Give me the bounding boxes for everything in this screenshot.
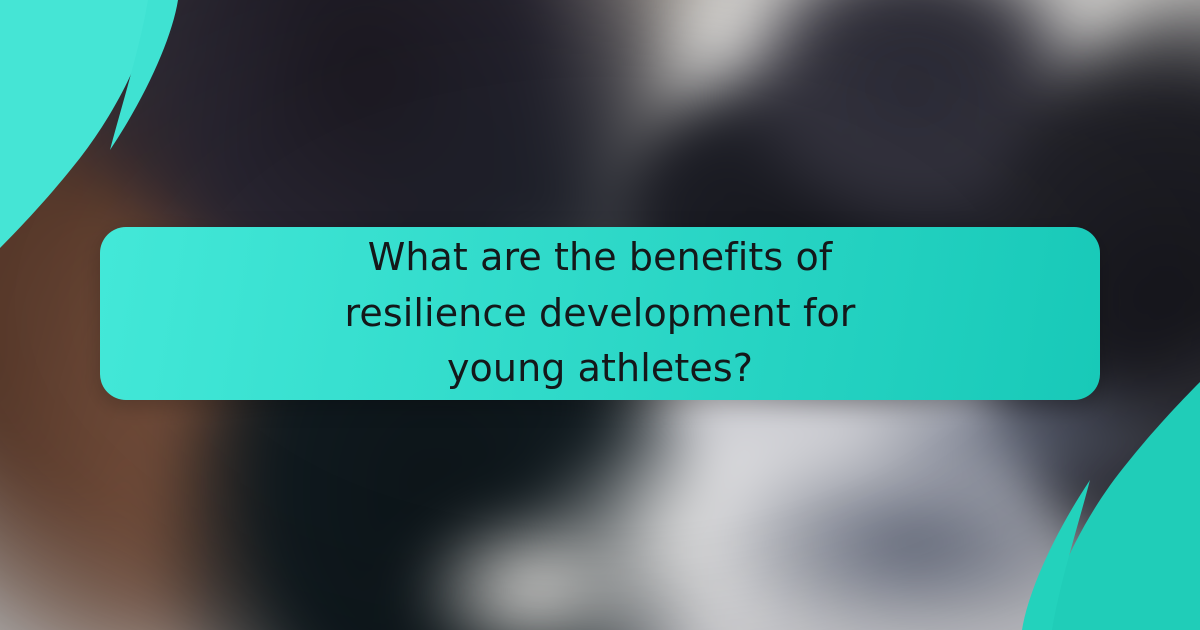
question-banner: What are the benefits of resilience deve… — [0, 0, 1200, 630]
question-text: What are the benefits of resilience deve… — [280, 230, 920, 398]
question-card: What are the benefits of resilience deve… — [100, 227, 1100, 400]
